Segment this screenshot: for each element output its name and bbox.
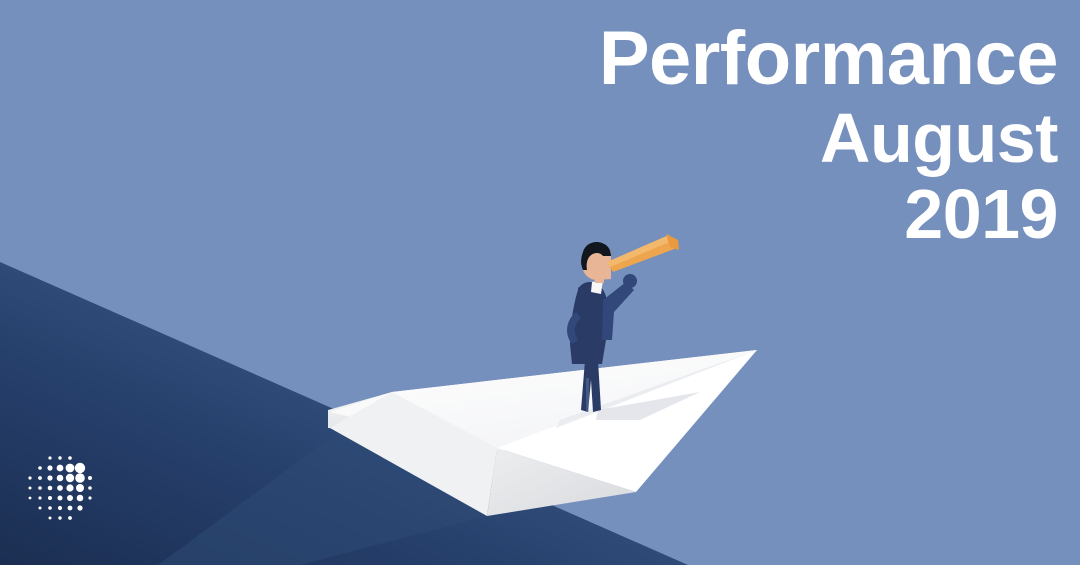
illustration-scene bbox=[0, 0, 1080, 565]
brand-logo[interactable] bbox=[24, 452, 96, 528]
dot-grid-circle-logo-icon bbox=[24, 452, 96, 528]
performance-banner: Performance August 2019 bbox=[0, 0, 1080, 565]
man-leg-gap bbox=[586, 378, 589, 412]
man-hand bbox=[623, 274, 637, 288]
